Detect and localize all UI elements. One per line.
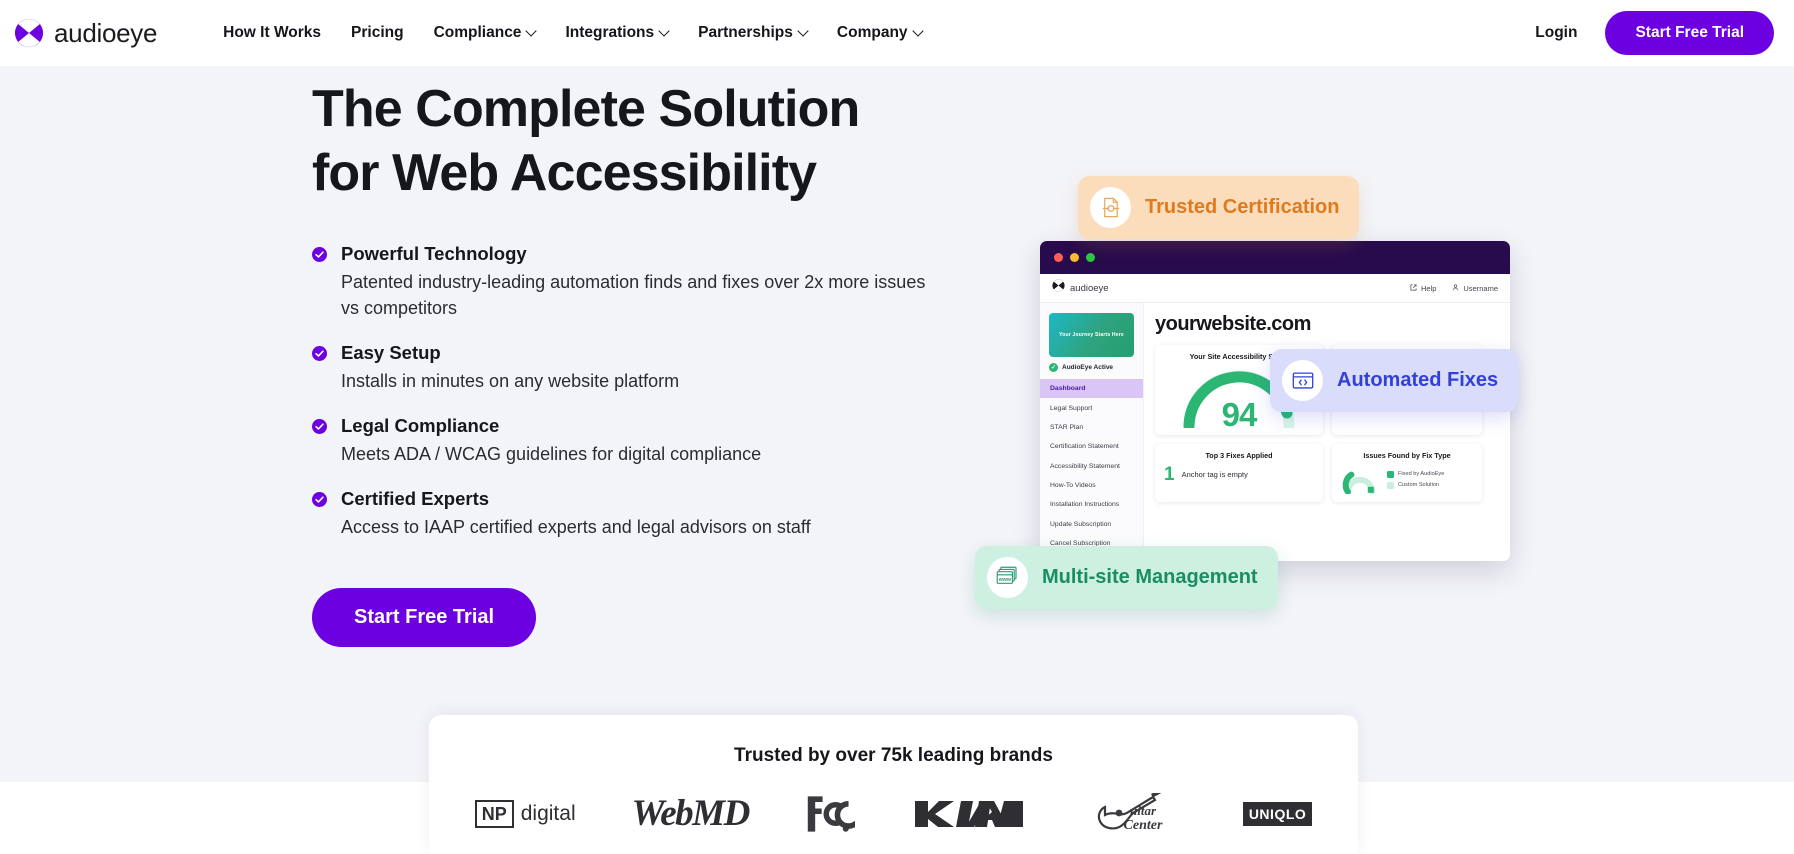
feature-title: Powerful Technology: [341, 242, 932, 267]
feature-description: Access to IAAP certified experts and leg…: [341, 514, 811, 540]
nav-item-label: Compliance: [434, 24, 522, 42]
nav-item-label: Integrations: [565, 24, 654, 42]
uniqlo-line-1: UNI: [1249, 807, 1275, 821]
sidebar-item-how-to-videos[interactable]: How-To Videos: [1040, 476, 1143, 495]
help-link[interactable]: Help: [1410, 284, 1436, 293]
legend-label: Fixed by AudioEye: [1398, 471, 1444, 477]
hero-title-line-1: The Complete Solution: [312, 80, 859, 138]
nav-item-label: How It Works: [223, 24, 321, 42]
window-maximize-dot-icon: [1086, 253, 1095, 262]
badge-label: Automated Fixes: [1337, 369, 1498, 392]
audioeye-logo-icon: [14, 18, 44, 48]
panel-title: Issues Found by Fix Type: [1341, 451, 1473, 460]
user-menu[interactable]: Username: [1452, 284, 1498, 293]
donut-chart-area: Fixed by AudioEye Custom Solution: [1341, 464, 1473, 499]
feature-title: Legal Compliance: [341, 414, 761, 439]
hero-illustration: audioeye Help Username: [990, 96, 1550, 596]
brand-logo-webmd: WebMD: [632, 792, 749, 835]
list-item: Certified Experts Access to IAAP certifi…: [312, 487, 932, 540]
svg-text:uitar: uitar: [1130, 803, 1157, 818]
panel-title: Top 3 Fixes Applied: [1164, 451, 1314, 460]
legend-label: Custom Solution: [1398, 482, 1439, 488]
code-window-icon: [1282, 360, 1323, 401]
browser-title-bar: [1040, 241, 1510, 274]
badge-label: Multi-site Management: [1042, 566, 1258, 589]
feature-description: Installs in minutes on any website platf…: [341, 368, 679, 394]
top-fixes-panel: Top 3 Fixes Applied 1 Anchor tag is empt…: [1155, 444, 1323, 502]
svg-text:www: www: [998, 577, 1012, 583]
legend-item: Custom Solution: [1387, 482, 1444, 489]
bottom-panels-row: Top 3 Fixes Applied 1 Anchor tag is empt…: [1155, 444, 1499, 502]
hero-copy: The Complete Solution for Web Accessibil…: [312, 78, 932, 647]
feature-list: Powerful Technology Patented industry-le…: [312, 242, 932, 540]
issues-by-fix-type-panel: Issues Found by Fix Type: [1332, 444, 1482, 502]
window-minimize-dot-icon: [1070, 253, 1079, 262]
list-item: 1 Anchor tag is empty: [1164, 465, 1314, 484]
chart-legend: Fixed by AudioEye Custom Solution: [1387, 471, 1444, 493]
np-mark: NP: [475, 800, 514, 828]
sidebar-item-legal-support[interactable]: Legal Support: [1040, 398, 1143, 417]
login-link[interactable]: Login: [1535, 24, 1577, 42]
nav-item-integrations[interactable]: Integrations: [565, 24, 668, 42]
app-brand-name: audioeye: [1070, 283, 1109, 294]
list-item: Easy Setup Installs in minutes on any we…: [312, 341, 932, 394]
certificate-icon: [1090, 187, 1131, 228]
help-label: Help: [1421, 284, 1436, 293]
external-link-icon: [1410, 284, 1417, 293]
user-icon: [1452, 284, 1459, 293]
chevron-down-icon: [658, 25, 669, 36]
sidebar-item-accessibility-statement[interactable]: Accessibility Statement: [1040, 457, 1143, 476]
nav-item-partnerships[interactable]: Partnerships: [698, 24, 807, 42]
hero-section: The Complete Solution for Web Accessibil…: [0, 66, 1794, 782]
brand-name: audioeye: [54, 18, 157, 49]
badge-trusted-certification: Trusted Certification: [1078, 176, 1359, 239]
sidebar-item-update-subscription[interactable]: Update Subscription: [1040, 515, 1143, 534]
check-circle-icon: [312, 346, 327, 394]
promo-card[interactable]: Your Journey Starts Here: [1049, 313, 1134, 357]
top-navigation-bar: audioeye How It Works Pricing Compliance…: [0, 0, 1794, 66]
app-body: Your Journey Starts Here ✓ AudioEye Acti…: [1040, 303, 1510, 561]
page-title: The Complete Solution for Web Accessibil…: [312, 78, 932, 206]
sidebar-item-star-plan[interactable]: STAR Plan: [1040, 418, 1143, 437]
chevron-down-icon: [912, 25, 923, 36]
check-circle-icon: [312, 247, 327, 321]
brand-logo-row: NP digital WebMD: [429, 792, 1358, 835]
svg-text:Center: Center: [1123, 818, 1162, 833]
nav-item-pricing[interactable]: Pricing: [351, 24, 404, 42]
site-domain-title: yourwebsite.com: [1155, 313, 1499, 336]
username-label: Username: [1463, 284, 1498, 293]
badge-automated-fixes: Automated Fixes: [1270, 349, 1518, 412]
app-header-actions: Help Username: [1410, 284, 1498, 293]
nav-actions: Login Start Free Trial: [1535, 11, 1774, 55]
start-free-trial-button-hero[interactable]: Start Free Trial: [312, 588, 536, 647]
brand-logo-kia: [911, 797, 1039, 831]
check-circle-icon: [312, 492, 327, 540]
brand-logo-guitar-center: uitar Center: [1095, 793, 1187, 835]
feature-title: Easy Setup: [341, 341, 679, 366]
nav-links: How It Works Pricing Compliance Integrat…: [223, 24, 921, 42]
list-item: Powerful Technology Patented industry-le…: [312, 242, 932, 321]
brands-title: Trusted by over 75k leading brands: [429, 715, 1358, 767]
nav-item-label: Pricing: [351, 24, 404, 42]
app-header: audioeye Help Username: [1040, 274, 1510, 303]
uniqlo-line-2: QLO: [1274, 807, 1306, 821]
stacked-windows-www-icon: www: [987, 557, 1028, 598]
fix-description: Anchor tag is empty: [1182, 470, 1248, 479]
donut-chart-icon: [1341, 464, 1379, 499]
window-close-dot-icon: [1054, 253, 1063, 262]
sidebar-item-installation-instructions[interactable]: Installation Instructions: [1040, 495, 1143, 514]
status-badge: ✓ AudioEye Active: [1040, 363, 1143, 379]
badge-label: Trusted Certification: [1145, 196, 1339, 219]
list-item: Legal Compliance Meets ADA / WCAG guidel…: [312, 414, 932, 467]
badge-multi-site-management: www Multi-site Management: [975, 546, 1278, 609]
nav-item-company[interactable]: Company: [837, 24, 922, 42]
check-circle-icon: [312, 419, 327, 467]
legend-swatch-icon: [1387, 471, 1394, 478]
check-icon: ✓: [1049, 363, 1058, 372]
sidebar-item-dashboard[interactable]: Dashboard: [1040, 379, 1143, 398]
brand-logo-fcc: [805, 793, 855, 835]
app-sidebar: Your Journey Starts Here ✓ AudioEye Acti…: [1040, 303, 1144, 561]
legend-swatch-icon: [1387, 482, 1394, 489]
brand-logo[interactable]: audioeye: [14, 18, 157, 49]
brand-logo-np-digital: NP digital: [475, 800, 576, 828]
fix-rank: 1: [1164, 465, 1175, 484]
app-main-content: yourwebsite.com Your Site Accessibility …: [1144, 303, 1510, 561]
feature-description: Meets ADA / WCAG guidelines for digital …: [341, 441, 761, 467]
nav-item-label: Company: [837, 24, 908, 42]
sidebar-item-certification-statement[interactable]: Certification Statement: [1040, 437, 1143, 456]
trusted-brands-card: Trusted by over 75k leading brands NP di…: [429, 715, 1358, 854]
start-free-trial-button-nav[interactable]: Start Free Trial: [1605, 11, 1774, 55]
nav-item-how-it-works[interactable]: How It Works: [223, 24, 321, 42]
brand-logo-uniqlo: UNI QLO: [1243, 802, 1312, 826]
nav-item-label: Partnerships: [698, 24, 793, 42]
audioeye-logo-icon: [1052, 279, 1065, 297]
np-word: digital: [521, 802, 576, 826]
feature-title: Certified Experts: [341, 487, 811, 512]
status-badge-label: AudioEye Active: [1062, 364, 1113, 371]
hero-title-line-2: for Web Accessibility: [312, 144, 816, 202]
legend-item: Fixed by AudioEye: [1387, 471, 1444, 478]
feature-description: Patented industry-leading automation fin…: [341, 269, 932, 321]
nav-item-compliance[interactable]: Compliance: [434, 24, 536, 42]
chevron-down-icon: [797, 25, 808, 36]
chevron-down-icon: [526, 25, 537, 36]
